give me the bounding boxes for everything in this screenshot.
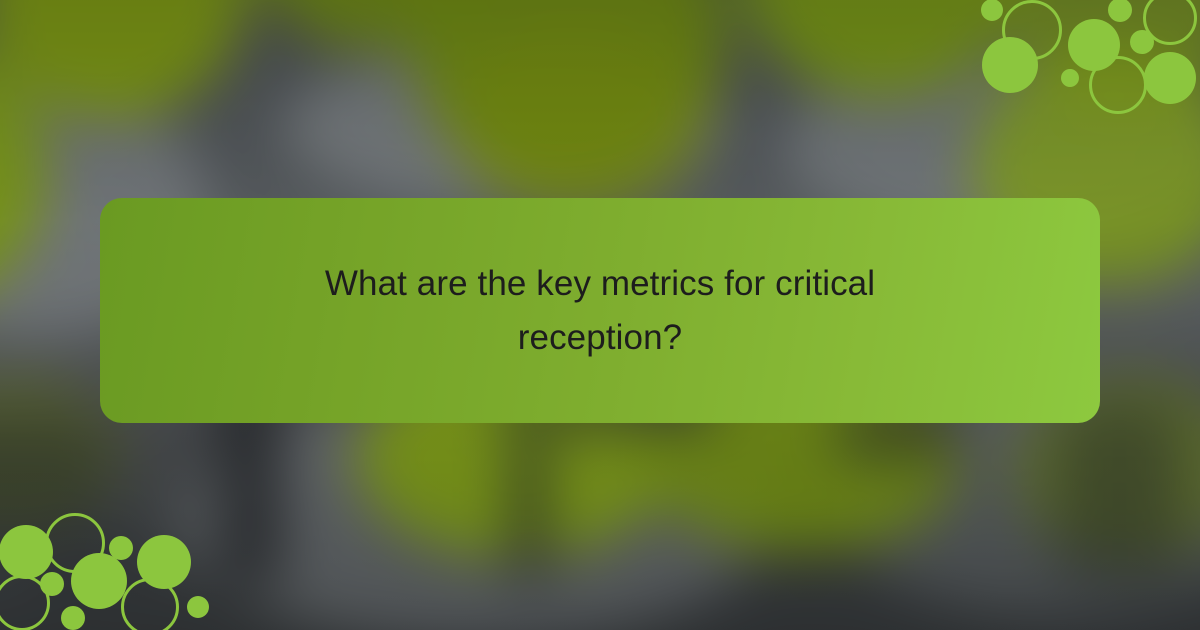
question-text: What are the key metrics for critical re… (280, 257, 920, 363)
screenshot-canvas: What are the key metrics for critical re… (0, 0, 1200, 630)
question-card: What are the key metrics for critical re… (100, 198, 1100, 423)
